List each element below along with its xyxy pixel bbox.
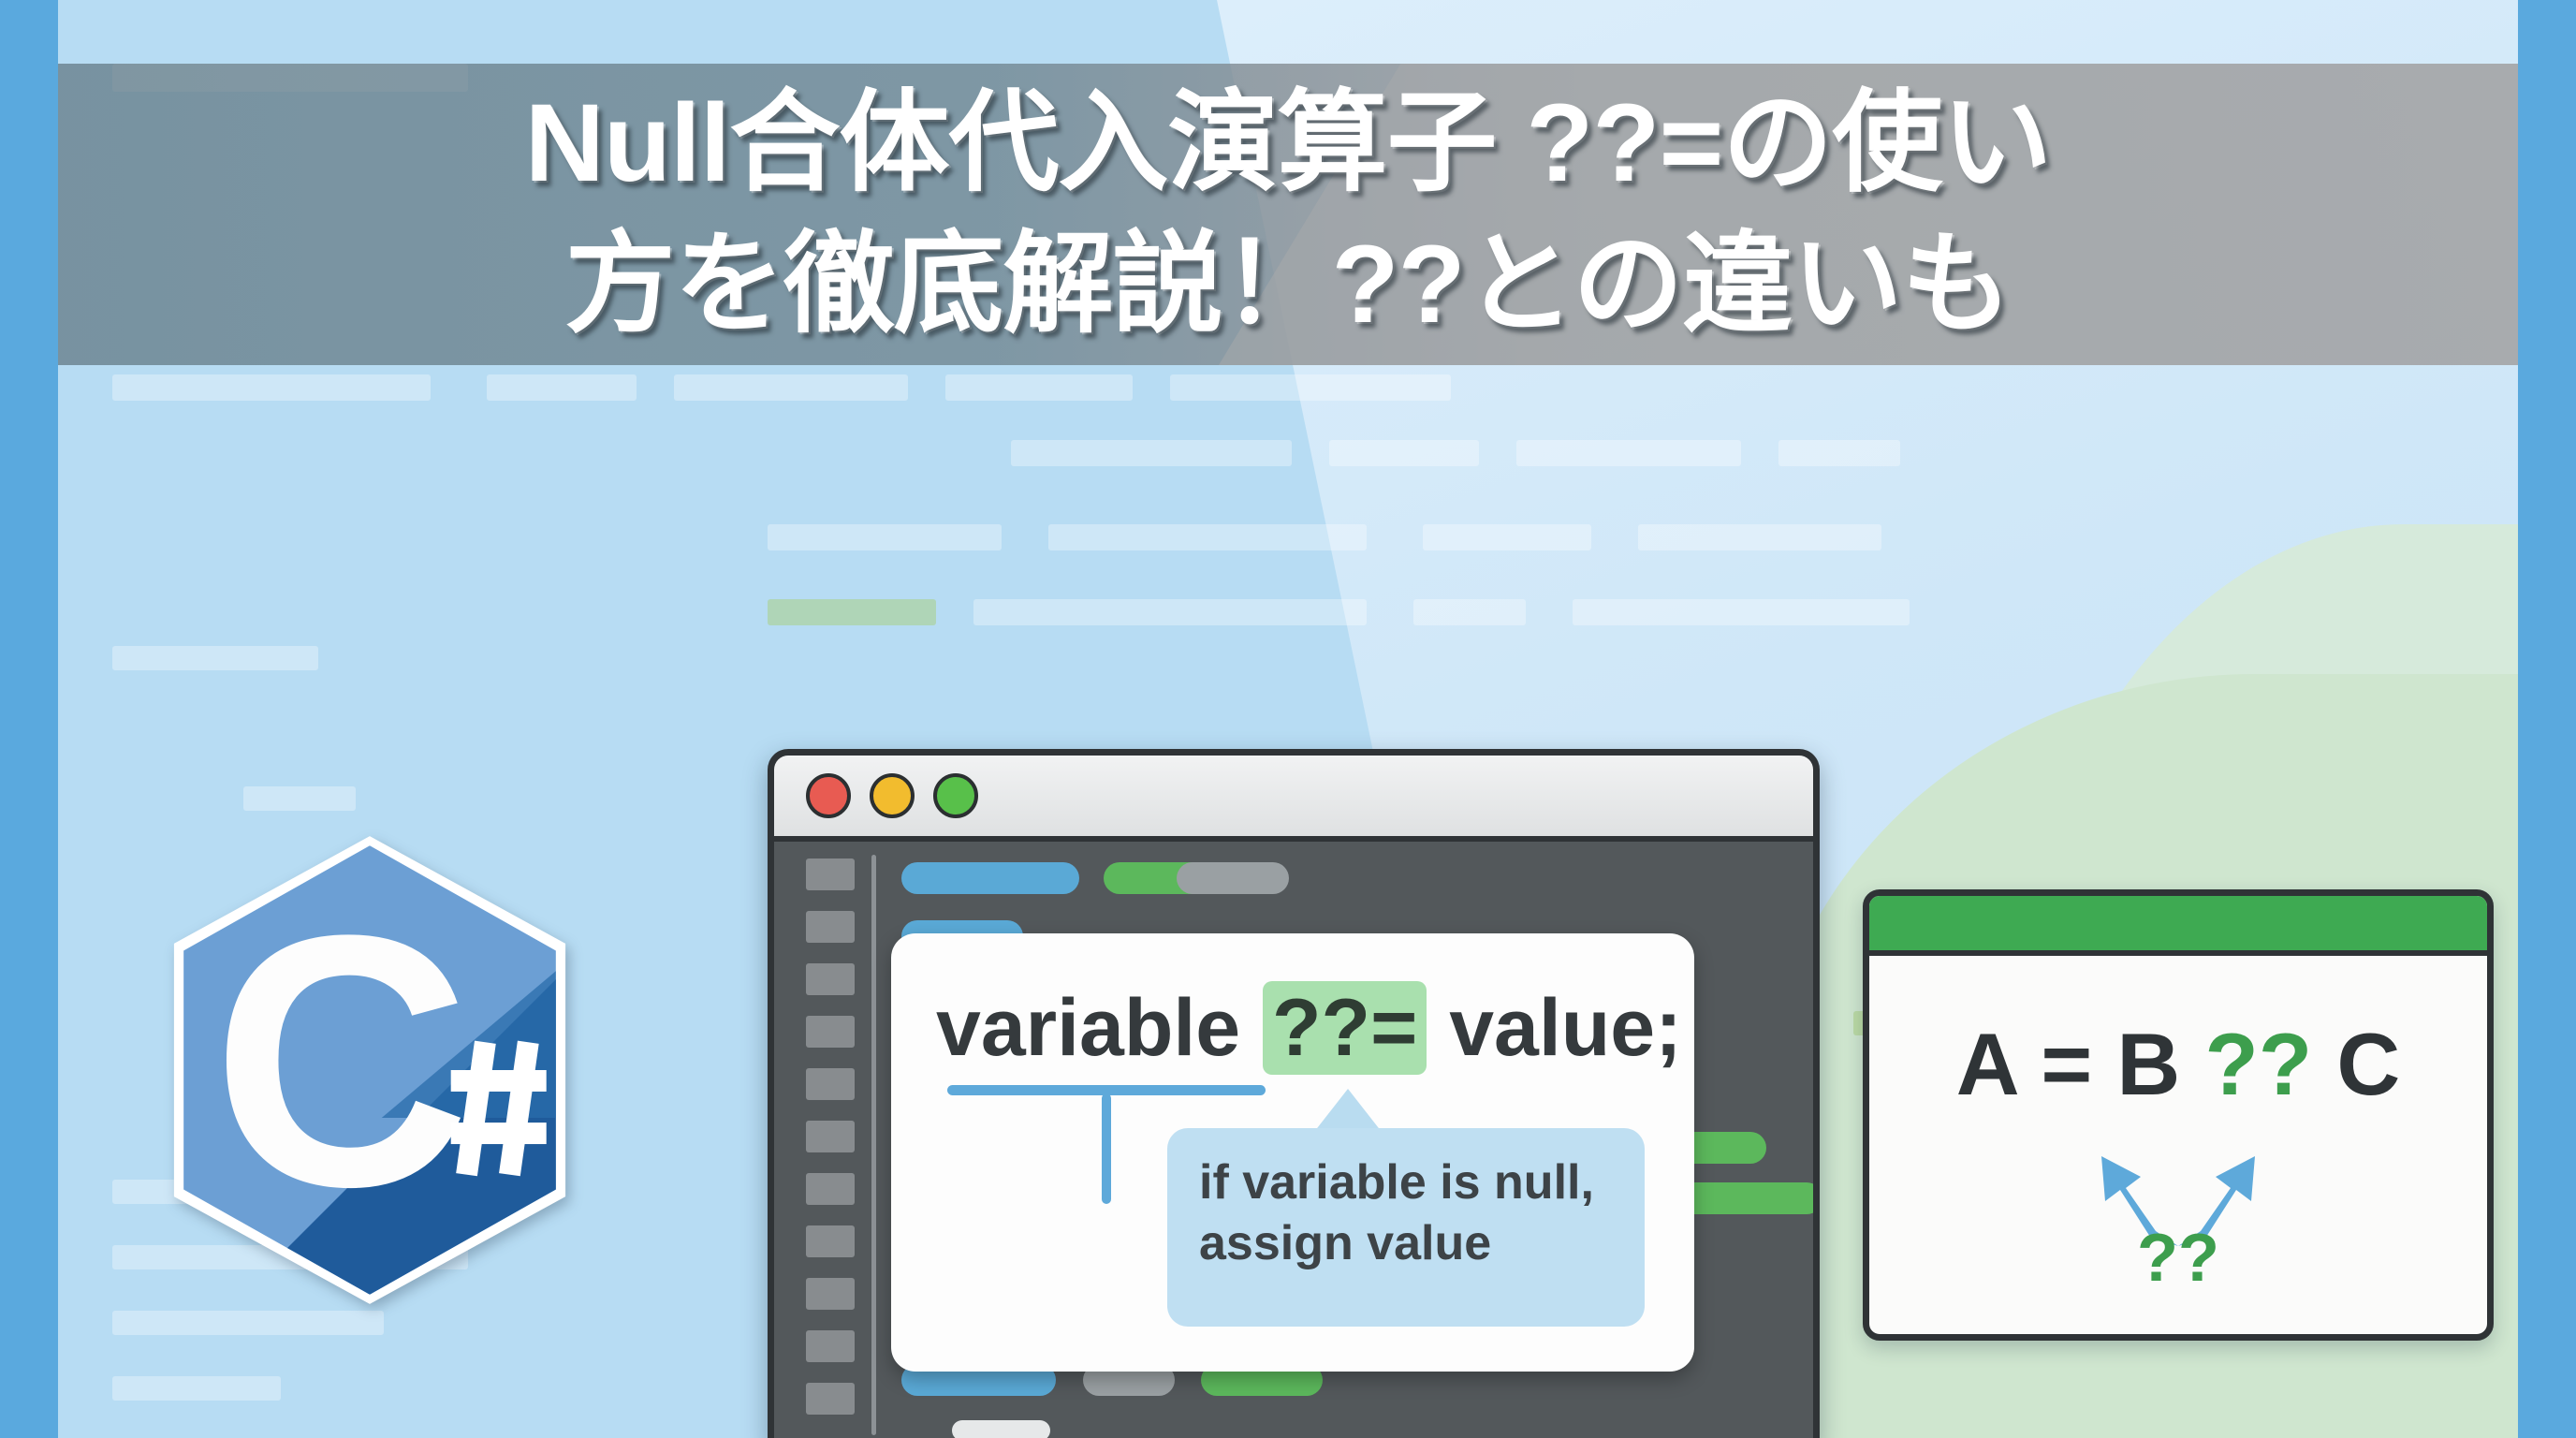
- page-title: Null合体代入演算子 ??=の使い 方を徹底解説！??との違いも: [58, 64, 2518, 365]
- null-coalescing-expression: A = B ?? C: [1869, 1014, 2487, 1115]
- syntax-card: variable ??= value; if variable is null,…: [891, 933, 1694, 1372]
- expression-panel-titlebar: [1869, 896, 2487, 956]
- editor-titlebar: [774, 756, 1813, 842]
- syntax-prefix: variable: [936, 983, 1263, 1073]
- variable-underline-bracket: [947, 1085, 1266, 1089]
- null-coalescing-assign-operator: ??=: [1263, 981, 1427, 1075]
- svg-text:C: C: [212, 861, 470, 1261]
- maximize-icon[interactable]: [933, 773, 978, 818]
- expression-panel-body: A = B ?? C ??: [1869, 956, 2487, 1328]
- expression-panel: A = B ?? C ??: [1863, 889, 2494, 1341]
- banner-image: Null合体代入演算子 ??=の使い 方を徹底解説！??との違いも C: [0, 0, 2576, 1438]
- equals-sign: =: [2041, 1015, 2092, 1113]
- title-line-1: Null合体代入演算子 ??=の使い: [525, 73, 2052, 214]
- code-editor-window: variable ??= value; if variable is null,…: [768, 749, 1820, 1438]
- operand-c: C: [2336, 1015, 2400, 1113]
- operator-label-below: ??: [1869, 1220, 2487, 1297]
- callout-line-2: assign value: [1199, 1213, 1613, 1274]
- editor-body: variable ??= value; if variable is null,…: [774, 842, 1813, 1438]
- background-left-strip: [0, 0, 58, 1438]
- background-right-strip: [2518, 0, 2576, 1438]
- callout-pointer-icon: [1314, 1089, 1382, 1132]
- syntax-suffix: value;: [1427, 983, 1681, 1073]
- callout-box: if variable is null, assign value: [1167, 1128, 1645, 1327]
- csharp-logo: C: [131, 831, 608, 1309]
- operand-b: B: [2116, 1015, 2180, 1113]
- callout-line-1: if variable is null,: [1199, 1152, 1613, 1213]
- title-line-2: 方を徹底解説！??との違いも: [565, 214, 2012, 356]
- syntax-expression: variable ??= value;: [936, 982, 1682, 1075]
- null-coalescing-operator: ??: [2204, 1015, 2312, 1113]
- minimize-icon[interactable]: [870, 773, 915, 818]
- line-number-gutter: [774, 842, 873, 1438]
- close-icon[interactable]: [806, 773, 851, 818]
- operand-a: A: [1956, 1015, 2016, 1113]
